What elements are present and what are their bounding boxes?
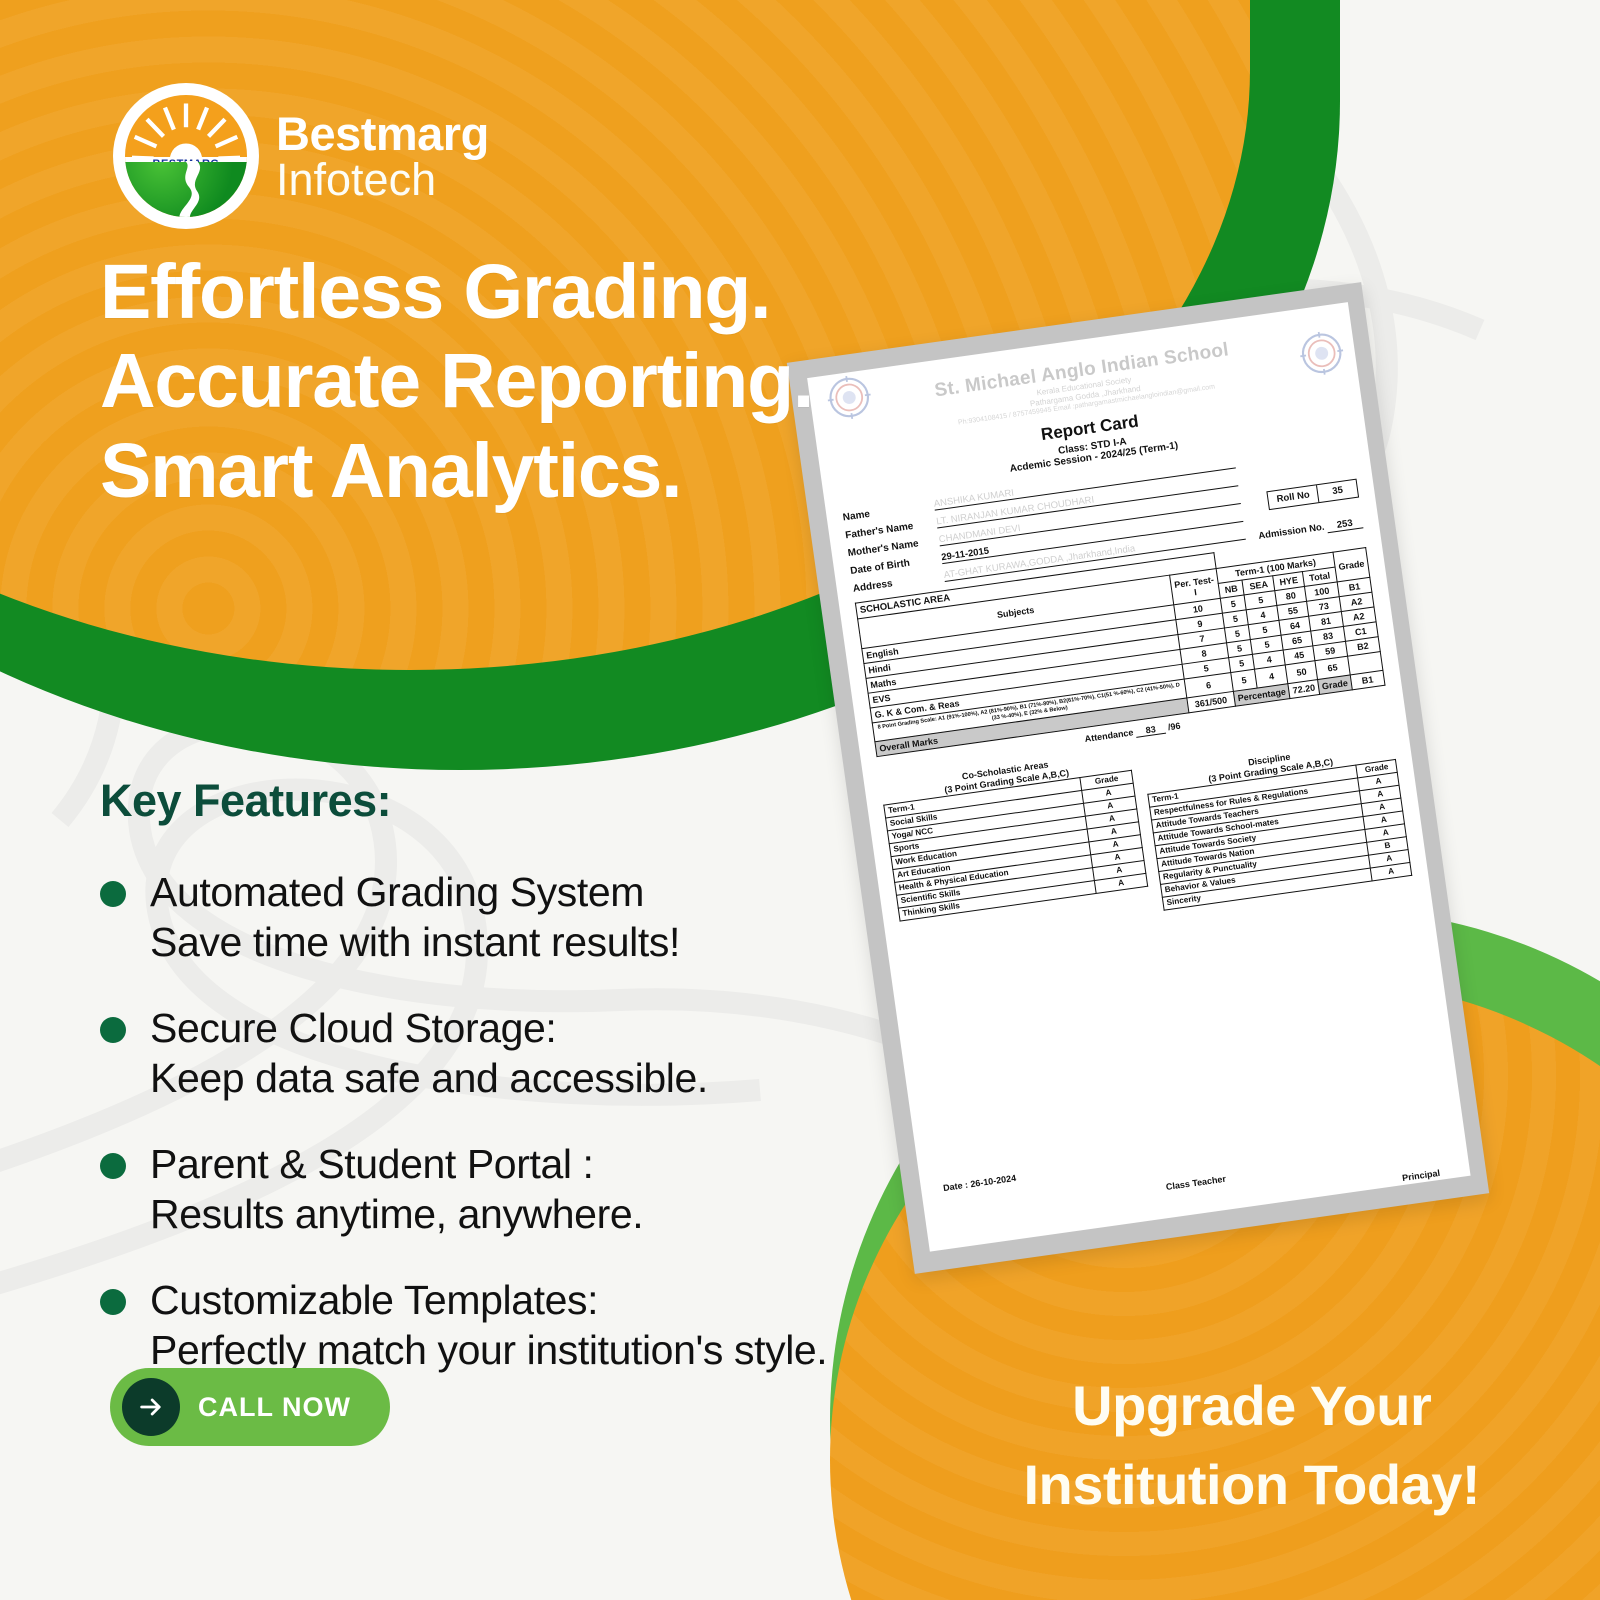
grade-label: Grade: [1317, 675, 1352, 694]
feature-title: Parent & Student Portal :: [150, 1139, 643, 1189]
headline-line-3: Smart Analytics.: [100, 427, 813, 516]
feature-title: Automated Grading System: [150, 867, 680, 917]
feature-description: Keep data safe and accessible.: [150, 1053, 708, 1103]
tagline-line-1: Upgrade Your: [1023, 1366, 1480, 1446]
headline: Effortless Grading. Accurate Reporting. …: [100, 248, 813, 516]
bullet-dot-icon: [100, 1289, 126, 1315]
grade-value: B1: [1350, 670, 1385, 689]
feature-item: Automated Grading System Save time with …: [100, 867, 980, 967]
brand-name-line1: Bestmarg: [276, 110, 489, 157]
bullet-dot-icon: [100, 1017, 126, 1043]
attendance-label: Attendance: [1084, 727, 1134, 744]
bullet-dot-icon: [100, 881, 126, 907]
bottom-tagline: Upgrade Your Institution Today!: [1023, 1366, 1480, 1525]
feature-description: Save time with instant results!: [150, 917, 680, 967]
call-now-button[interactable]: CALL NOW: [110, 1368, 390, 1446]
col-grade: Grade: [1333, 548, 1370, 582]
logo-badge-icon: BESTMARG: [118, 88, 254, 224]
key-features-heading: Key Features:: [100, 775, 980, 827]
headline-line-2: Accurate Reporting.: [100, 337, 813, 426]
attendance-total: /96: [1167, 721, 1181, 733]
principal-signature-label: Principal: [1402, 1168, 1441, 1183]
attendance-value: 83: [1135, 723, 1166, 738]
brand-name-line2: Infotech: [276, 157, 489, 202]
key-features-section: Key Features: Automated Grading System S…: [100, 775, 980, 1411]
discipline-section: Discipline (3 Point Grading Scale A,B,C)…: [1144, 737, 1412, 910]
bullet-dot-icon: [100, 1153, 126, 1179]
feature-description: Results anytime, anywhere.: [150, 1189, 643, 1239]
feature-title: Secure Cloud Storage:: [150, 1003, 708, 1053]
arrow-right-icon: [122, 1378, 180, 1436]
brand-logo: BESTMARG Bestmarg Infotech: [118, 88, 489, 224]
percentage-value: 72.20: [1288, 680, 1319, 699]
headline-line-1: Effortless Grading.: [100, 248, 813, 337]
feature-item: Secure Cloud Storage: Keep data safe and…: [100, 1003, 980, 1103]
tagline-line-2: Institution Today!: [1023, 1445, 1480, 1525]
poster-canvas: BESTMARG Bestmarg Infotech Effortless Gr…: [0, 0, 1600, 1600]
call-now-label: CALL NOW: [198, 1392, 351, 1423]
class-teacher-signature-label: Class Teacher: [1165, 1174, 1226, 1192]
feature-item: Customizable Templates: Perfectly match …: [100, 1275, 980, 1375]
logo-path-icon: [163, 161, 209, 217]
feature-title: Customizable Templates:: [150, 1275, 827, 1325]
feature-item: Parent & Student Portal : Results anytim…: [100, 1139, 980, 1239]
